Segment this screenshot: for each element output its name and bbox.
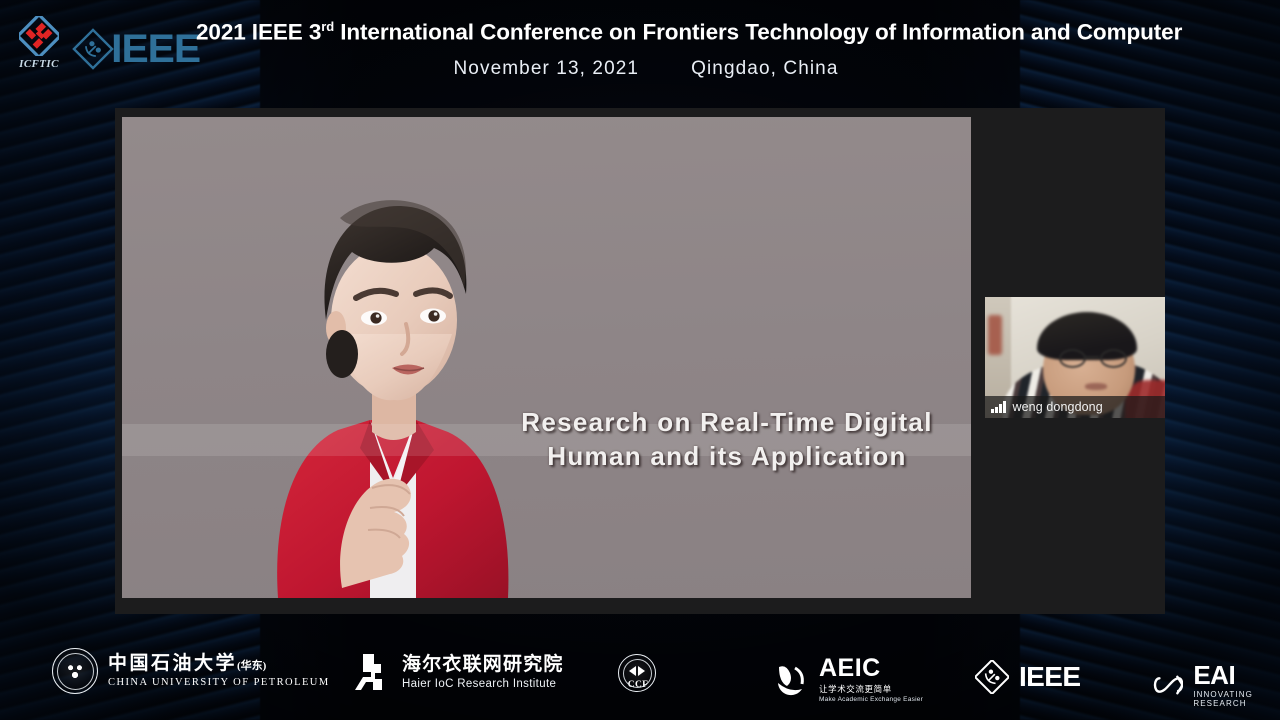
ccf-label: CCF <box>619 680 657 690</box>
icftic-diamond-icon <box>19 16 59 56</box>
sponsor-china-university-of-petroleum: 中国石油大学(华东) CHINA UNIVERSITY OF PETROLEUM <box>52 648 330 694</box>
eai-infinity-icon <box>1152 672 1183 698</box>
icftic-caption: ICFTIC <box>10 58 68 70</box>
ieee-header-logo: IEEE <box>72 26 199 72</box>
sponsor-haier-ioc: 海尔衣联网研究院 Haier IoC Research Institute <box>352 652 564 692</box>
digital-human-avatar <box>220 148 550 598</box>
shared-screen-content[interactable]: Research on Real-Time Digital Human and … <box>122 117 971 598</box>
haier-mark-icon <box>352 652 392 692</box>
haier-name-en: Haier IoC Research Institute <box>402 678 564 690</box>
university-seal-icon <box>52 648 98 694</box>
ieee-diamond-icon <box>72 28 114 70</box>
cup-name-cn-suffix: (华东) <box>237 660 266 672</box>
ccf-inner-mark <box>629 666 645 676</box>
eai-wordmark: EAI <box>1193 662 1280 688</box>
conference-title-rest: International Conference on Frontiers Te… <box>334 20 1182 45</box>
sponsor-ccf: CCF <box>618 654 656 692</box>
slide-title-line-1: Research on Real-Time Digital <box>502 405 952 439</box>
ccf-seal-icon: CCF <box>618 654 656 692</box>
ccf-triangle-left <box>629 666 636 676</box>
participant-name-bar: weng dongdong <box>985 396 1165 418</box>
signal-bars-icon <box>991 401 1006 413</box>
cup-name-cn: 中国石油大学(华东) <box>108 654 330 675</box>
aeic-leaf-icon <box>775 663 809 697</box>
ccf-triangle-right <box>638 666 645 676</box>
aeic-tagline-en: Make Academic Exchange Easier <box>819 696 923 703</box>
slide-title: Research on Real-Time Digital Human and … <box>502 405 952 473</box>
aeic-wordmark: AEIC <box>819 656 923 681</box>
conference-title-main: 2021 IEEE 3 <box>196 20 321 45</box>
ieee-wordmark: IEEE <box>1019 663 1080 691</box>
ieee-header-wordmark: IEEE <box>111 29 200 69</box>
eai-tagline: INNOVATING RESEARCH <box>1193 690 1280 708</box>
conference-title-ordinal: rd <box>321 19 334 34</box>
icftic-logo: ICFTIC <box>10 16 68 78</box>
cup-name-en: CHINA UNIVERSITY OF PETROLEUM <box>108 677 330 688</box>
ieee-diamond-icon <box>975 660 1009 694</box>
sponsor-aeic: AEIC 让学术交流更简单 Make Academic Exchange Eas… <box>775 656 923 703</box>
slide-title-line-2: Human and its Application <box>502 439 952 473</box>
meeting-window: Research on Real-Time Digital Human and … <box>115 108 1165 614</box>
participant-name: weng dongdong <box>1013 400 1103 414</box>
sponsor-ieee: IEEE <box>975 660 1080 694</box>
haier-name-cn: 海尔衣联网研究院 <box>402 654 564 676</box>
sponsor-logo-bar: 中国石油大学(华东) CHINA UNIVERSITY OF PETROLEUM… <box>0 630 1280 720</box>
conference-header: ICFTIC IEEE 2021 IEEE 3rd International … <box>0 0 1280 96</box>
conference-date: November 13, 2021 <box>453 58 639 80</box>
participant-video-tile[interactable]: weng dongdong <box>985 297 1165 418</box>
university-seal-inner-mark <box>64 660 86 682</box>
aeic-tagline-cn: 让学术交流更简单 <box>819 683 923 695</box>
conference-location: Qingdao, China <box>691 58 838 80</box>
conference-title: 2021 IEEE 3rd International Conference o… <box>196 19 1280 46</box>
sponsor-eai: EAI INNOVATING RESEARCH <box>1152 662 1280 708</box>
conference-subline: November 13, 2021 Qingdao, China <box>196 58 1096 80</box>
